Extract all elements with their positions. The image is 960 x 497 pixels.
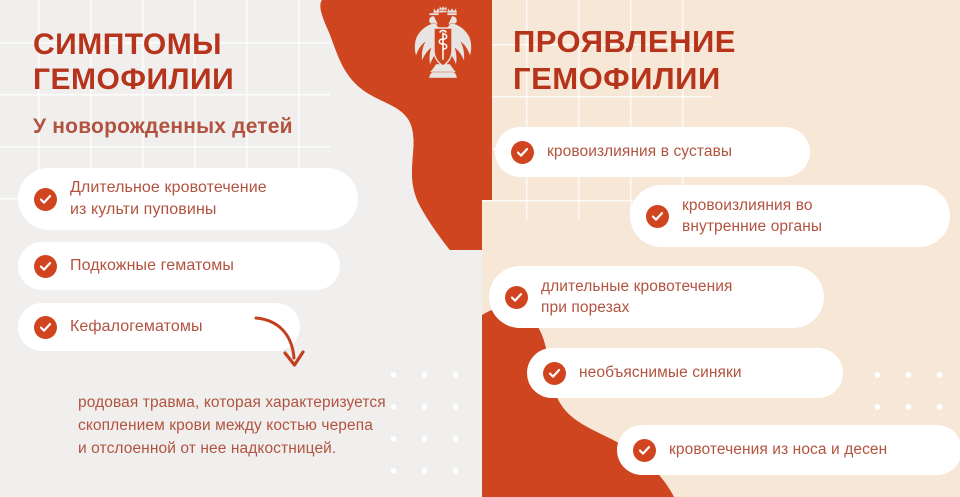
poster-root: СИМПТОМЫ ГЕМОФИЛИИ У новорожденных детей… [0,0,960,497]
list-item: кровоизлияния в суставы [495,127,810,177]
left-page-title: СИМПТОМЫ ГЕМОФИЛИИ [33,27,234,98]
check-circle-icon [543,362,566,385]
list-item-label: кровотечения из носа и десен [669,439,887,460]
list-item: кровоизлияния во внутренние органы [630,185,950,247]
list-item-label: Длительное кровотечение из культи пупови… [70,177,267,221]
list-item: Длительное кровотечение из культи пупови… [18,168,358,230]
roszdravnadzor-eagle-emblem-icon [412,6,474,82]
list-item-label: Кефалогематомы [70,316,203,338]
list-item: необъяснимые синяки [527,348,843,398]
orange-edge-strip-decoration [482,0,492,200]
check-circle-icon [34,188,57,211]
list-item-label: необъяснимые синяки [579,362,742,383]
check-circle-icon [505,286,528,309]
left-note-text: родовая травма, которая характеризуется … [78,392,468,460]
check-circle-icon [34,255,57,278]
check-circle-icon [511,141,534,164]
list-item: кровотечения из носа и десен [617,425,960,475]
list-item: длительные кровотечения при порезах [489,266,824,328]
list-item-label: кровоизлияния в суставы [547,141,732,162]
list-item: Подкожные гематомы [18,242,340,290]
curved-down-arrow-icon [252,312,332,384]
list-item-label: Подкожные гематомы [70,255,234,277]
check-circle-icon [633,439,656,462]
left-panel-symptoms: СИМПТОМЫ ГЕМОФИЛИИ У новорожденных детей… [0,0,482,497]
right-page-title: ПРОЯВЛЕНИЕ ГЕМОФИЛИИ [513,24,736,97]
check-circle-icon [646,205,669,228]
list-item-label: длительные кровотечения при порезах [541,276,733,319]
check-circle-icon [34,316,57,339]
list-item-label: кровоизлияния во внутренние органы [682,195,822,238]
left-page-subtitle: У новорожденных детей [33,115,293,139]
